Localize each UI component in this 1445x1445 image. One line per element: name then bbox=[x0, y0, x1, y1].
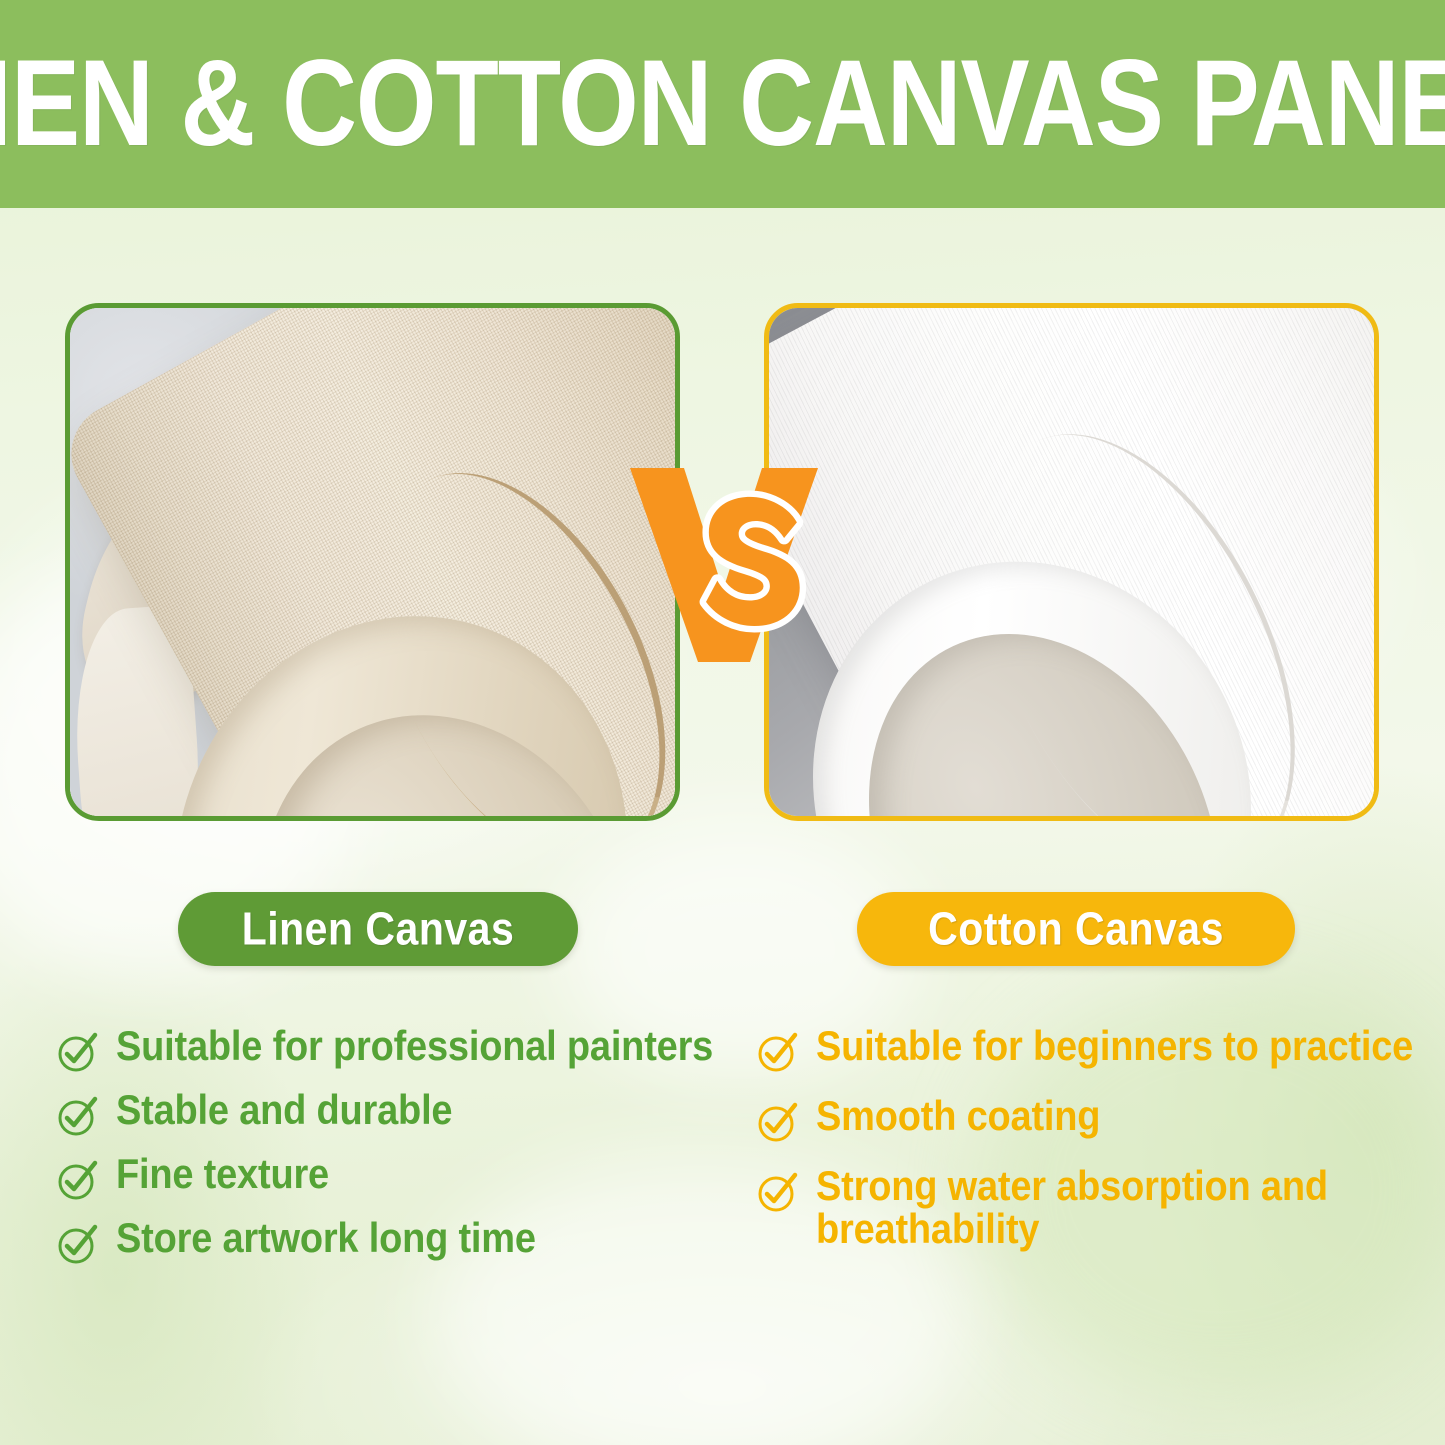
feature-text: Fine texture bbox=[116, 1154, 329, 1197]
check-circle-icon bbox=[56, 1222, 100, 1266]
feature-list-cotton: Suitable for beginners to practice Smoot… bbox=[756, 1026, 1416, 1266]
check-circle-icon bbox=[756, 1100, 800, 1144]
list-item: Fine texture bbox=[56, 1154, 716, 1202]
list-item: Store artwork long time bbox=[56, 1218, 716, 1266]
feature-text: Strong water absorption and breathabilit… bbox=[816, 1166, 1416, 1251]
check-circle-icon bbox=[756, 1170, 800, 1214]
category-pill-linen-label: Linen Canvas bbox=[242, 906, 515, 952]
feature-list-linen: Suitable for professional painters Stabl… bbox=[56, 1026, 716, 1282]
page-title: LINEN & COTTON CANVAS PANELS bbox=[0, 43, 1445, 166]
check-circle-icon bbox=[56, 1158, 100, 1202]
feature-text: Smooth coating bbox=[816, 1096, 1100, 1139]
check-circle-icon bbox=[756, 1030, 800, 1074]
photo-panel-linen bbox=[65, 303, 680, 821]
check-circle-icon bbox=[56, 1030, 100, 1074]
cotton-canvas-photo bbox=[769, 308, 1374, 816]
linen-canvas-photo bbox=[70, 308, 675, 816]
list-item: Suitable for professional painters bbox=[56, 1026, 716, 1074]
feature-text: Suitable for professional painters bbox=[116, 1026, 713, 1069]
category-pill-cotton-label: Cotton Canvas bbox=[928, 906, 1224, 952]
infographic-page: LINEN & COTTON CANVAS PANELS bbox=[0, 0, 1445, 1445]
list-item: Suitable for beginners to practice bbox=[756, 1026, 1416, 1074]
check-circle-icon bbox=[56, 1094, 100, 1138]
category-pill-linen: Linen Canvas bbox=[178, 892, 578, 966]
list-item: Strong water absorption and breathabilit… bbox=[756, 1166, 1416, 1244]
feature-text: Suitable for beginners to practice bbox=[816, 1026, 1413, 1069]
category-pill-cotton: Cotton Canvas bbox=[857, 892, 1295, 966]
feature-text: Stable and durable bbox=[116, 1090, 452, 1133]
list-item: Smooth coating bbox=[756, 1096, 1416, 1144]
header-band: LINEN & COTTON CANVAS PANELS bbox=[0, 0, 1445, 208]
feature-text: Store artwork long time bbox=[116, 1218, 536, 1261]
photo-panel-cotton bbox=[764, 303, 1379, 821]
list-item: Stable and durable bbox=[56, 1090, 716, 1138]
